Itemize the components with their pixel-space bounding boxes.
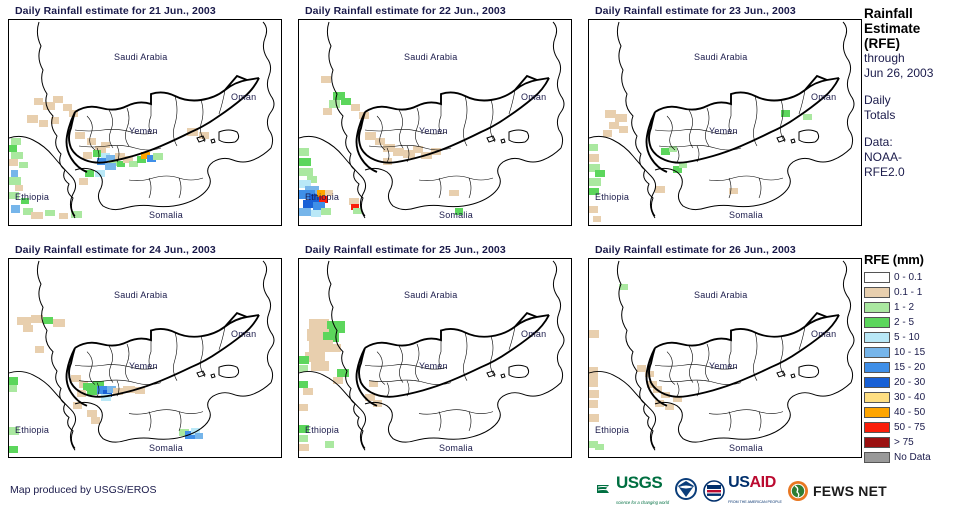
legend-row: 0 - 0.1 [864,270,967,285]
map-label-oman: Oman [521,329,546,339]
map-canvas[interactable]: Saudi ArabiaOmanYemenEthiopiaSomalia [298,19,572,226]
map-label-somalia: Somalia [729,210,763,220]
map-canvas[interactable]: Saudi ArabiaOmanYemenEthiopiaSomalia [298,258,572,458]
legend-label: No Data [894,452,931,463]
logo-strip: USGS science for a changing world USAID … [596,476,887,506]
map-panel-5: Daily Rainfall estimate for 25 Jun., 200… [298,243,576,458]
map-label-yemen: Yemen [419,126,448,136]
map-label-ethiopia: Ethiopia [595,425,629,435]
legend-label: 10 - 15 [894,347,925,358]
rfe-title-line2: Estimate [864,21,967,36]
legend-swatch [864,452,890,463]
legend-swatch [864,392,890,403]
map-panel-4: Daily Rainfall estimate for 24 Jun., 200… [8,243,286,458]
legend-label: 5 - 10 [894,332,920,343]
usgs-logo: USGS science for a changing world [596,474,669,508]
legend-swatch [864,302,890,313]
legend-swatch [864,347,890,358]
legend-row: 50 - 75 [864,420,967,435]
legend-row: 0.1 - 1 [864,285,967,300]
map-label-somalia: Somalia [149,443,183,453]
map-label-ethiopia: Ethiopia [15,425,49,435]
legend-row: 20 - 30 [864,375,967,390]
rfe-period-line2: Totals [864,108,967,123]
rfe-legend: RFE (mm) 0 - 0.10.1 - 11 - 22 - 55 - 101… [864,252,967,465]
map-label-ethiopia: Ethiopia [595,192,629,202]
map-panel-6: Daily Rainfall estimate for 26 Jun., 200… [588,243,866,458]
rfe-through-date: Jun 26, 2003 [864,66,967,81]
map-label-ethiopia: Ethiopia [305,192,339,202]
legend-label: 2 - 5 [894,317,914,328]
legend-label: 0.1 - 1 [894,287,922,298]
legend-row: 10 - 15 [864,345,967,360]
noaa-seal-icon [674,477,698,501]
rfe-period-line1: Daily [864,93,967,108]
rfe-title-line3: (RFE) [864,36,967,51]
legend-row: 2 - 5 [864,315,967,330]
map-label-oman: Oman [231,92,256,102]
rfe-data-source-line1: NOAA- [864,150,967,165]
legend-label: 15 - 20 [894,362,925,373]
map-label-saudi-arabia: Saudi Arabia [694,290,747,300]
map-panel-title: Daily Rainfall estimate for 22 Jun., 200… [298,4,576,19]
legend-title: RFE (mm) [864,252,967,267]
rfe-data-source-line2: RFE2.0 [864,165,967,180]
legend-row: 5 - 10 [864,330,967,345]
legend-row: 40 - 50 [864,405,967,420]
map-label-yemen: Yemen [129,361,158,371]
map-panel-title: Daily Rainfall estimate for 21 Jun., 200… [8,4,286,19]
country-boundaries [589,20,861,225]
usaid-logo: USAID FROM THE AMERICAN PEOPLE [703,475,782,507]
map-label-yemen: Yemen [709,126,738,136]
map-panel-title: Daily Rainfall estimate for 26 Jun., 200… [588,243,866,258]
map-canvas[interactable]: Saudi ArabiaOmanYemenEthiopiaSomalia [8,19,282,226]
map-label-saudi-arabia: Saudi Arabia [404,52,457,62]
map-label-saudi-arabia: Saudi Arabia [114,52,167,62]
legend-swatch [864,317,890,328]
rfe-through-label: through [864,51,967,66]
map-label-saudi-arabia: Saudi Arabia [114,290,167,300]
map-label-oman: Oman [231,329,256,339]
map-label-oman: Oman [811,92,836,102]
map-panel-3: Daily Rainfall estimate for 23 Jun., 200… [588,4,866,226]
map-canvas[interactable]: Saudi ArabiaOmanYemenEthiopiaSomalia [588,258,862,458]
country-boundaries [9,259,281,457]
map-panel-title: Daily Rainfall estimate for 24 Jun., 200… [8,243,286,258]
map-label-oman: Oman [521,92,546,102]
info-column: Rainfall Estimate (RFE) through Jun 26, … [864,6,967,180]
noaa-logo [674,477,698,506]
usaid-seal-icon [703,480,725,502]
map-label-somalia: Somalia [439,210,473,220]
legend-row: No Data [864,450,967,465]
map-canvas[interactable]: Saudi ArabiaOmanYemenEthiopiaSomalia [8,258,282,458]
map-credit: Map produced by USGS/EROS [10,484,156,496]
country-boundaries [589,259,861,457]
map-label-somalia: Somalia [729,443,763,453]
legend-label: 0 - 0.1 [894,272,922,283]
legend-label: 1 - 2 [894,302,914,313]
legend-row: 30 - 40 [864,390,967,405]
rfe-data-label: Data: [864,135,967,150]
map-label-ethiopia: Ethiopia [305,425,339,435]
map-label-yemen: Yemen [419,361,448,371]
legend-row: > 75 [864,435,967,450]
map-label-yemen: Yemen [709,361,738,371]
fewsnet-globe-icon [787,480,809,502]
legend-label: 20 - 30 [894,377,925,388]
legend-label: 40 - 50 [894,407,925,418]
map-panel-title: Daily Rainfall estimate for 25 Jun., 200… [298,243,576,258]
legend-label: > 75 [894,437,914,448]
map-label-somalia: Somalia [149,210,183,220]
map-panel-1: Daily Rainfall estimate for 21 Jun., 200… [8,4,286,226]
map-panel-title: Daily Rainfall estimate for 23 Jun., 200… [588,4,866,19]
map-label-oman: Oman [811,329,836,339]
country-boundaries [299,20,571,225]
legend-swatch [864,422,890,433]
legend-label: 50 - 75 [894,422,925,433]
legend-row: 15 - 20 [864,360,967,375]
legend-swatch [864,332,890,343]
map-label-yemen: Yemen [129,126,158,136]
country-boundaries [9,20,281,225]
legend-row: 1 - 2 [864,300,967,315]
map-label-ethiopia: Ethiopia [15,192,49,202]
legend-swatch [864,362,890,373]
legend-swatch [864,377,890,388]
map-label-saudi-arabia: Saudi Arabia [694,52,747,62]
country-boundaries [299,259,571,457]
map-label-somalia: Somalia [439,443,473,453]
legend-swatch [864,287,890,298]
usgs-mark-icon [596,481,616,501]
map-canvas[interactable]: Saudi ArabiaOmanYemenEthiopiaSomalia [588,19,862,226]
map-label-saudi-arabia: Saudi Arabia [404,290,457,300]
rfe-title-line1: Rainfall [864,6,967,21]
legend-label: 30 - 40 [894,392,925,403]
fewsnet-logo: FEWS NET [787,480,887,502]
map-panel-2: Daily Rainfall estimate for 22 Jun., 200… [298,4,576,226]
legend-swatch [864,407,890,418]
legend-swatch [864,437,890,448]
legend-swatch [864,272,890,283]
